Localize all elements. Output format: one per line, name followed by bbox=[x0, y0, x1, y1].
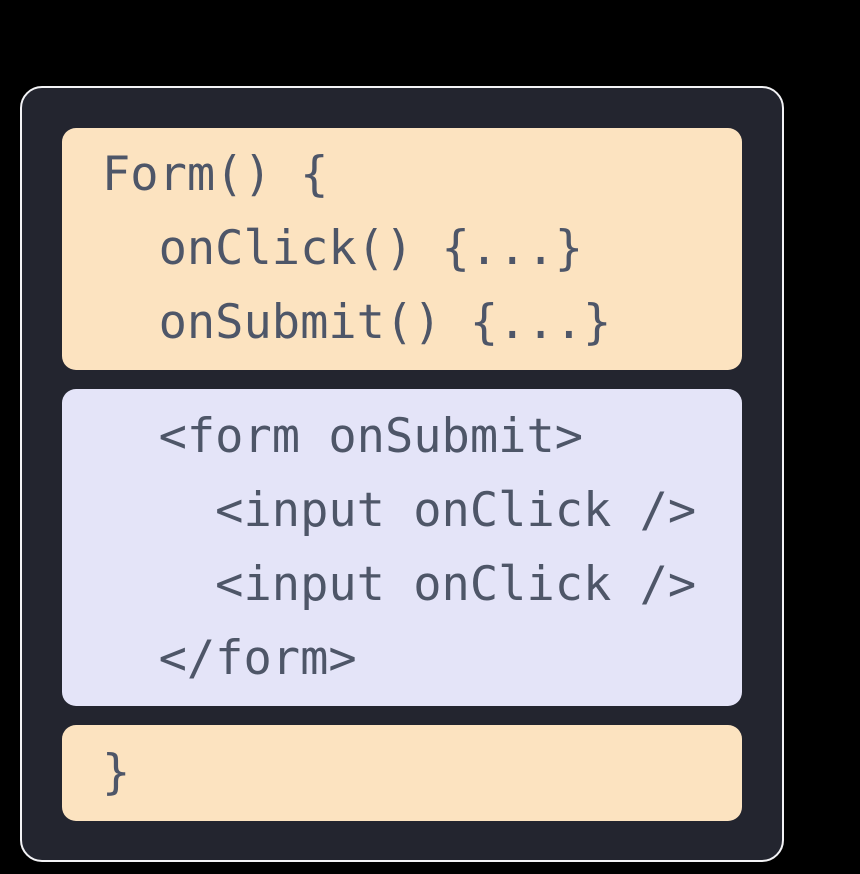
code-line: onSubmit() {...} bbox=[62, 286, 742, 360]
code-line: <input onClick /> bbox=[62, 474, 742, 548]
code-line: <form onSubmit> bbox=[62, 400, 742, 474]
code-panel-closing-brace: } bbox=[62, 725, 742, 821]
code-line: Form() { bbox=[62, 138, 742, 212]
code-line: <input onClick /> bbox=[62, 548, 742, 622]
screenshot-canvas: Form() { onClick() {...} onSubmit() {...… bbox=[0, 0, 860, 874]
code-line: onClick() {...} bbox=[62, 212, 742, 286]
code-line: } bbox=[62, 736, 742, 810]
code-panel-component-body: Form() { onClick() {...} onSubmit() {...… bbox=[62, 128, 742, 370]
code-card: Form() { onClick() {...} onSubmit() {...… bbox=[20, 86, 784, 862]
code-line: </form> bbox=[62, 622, 742, 696]
code-panel-markup-block: <form onSubmit> <input onClick /> <input… bbox=[62, 389, 742, 706]
